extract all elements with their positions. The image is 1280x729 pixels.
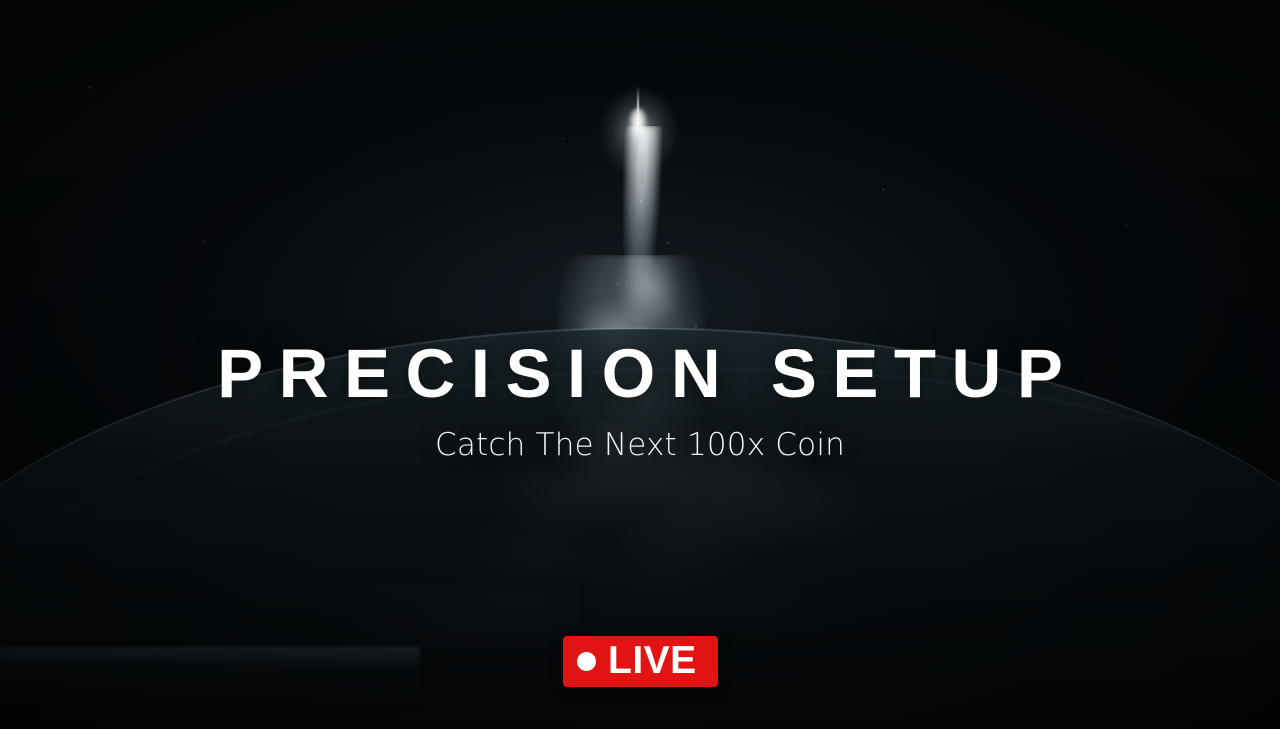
live-badge[interactable]: LIVE (563, 636, 718, 687)
page-title: PRECISION SETUP (0, 339, 1280, 408)
hero-banner: PRECISION SETUP Catch The Next 100x Coin… (0, 0, 1280, 729)
live-indicator-dot-icon (577, 652, 596, 671)
live-badge-label: LIVE (608, 641, 697, 680)
page-subtitle: Catch The Next 100x Coin (0, 428, 1280, 462)
hero-content: PRECISION SETUP Catch The Next 100x Coin… (0, 0, 1280, 729)
